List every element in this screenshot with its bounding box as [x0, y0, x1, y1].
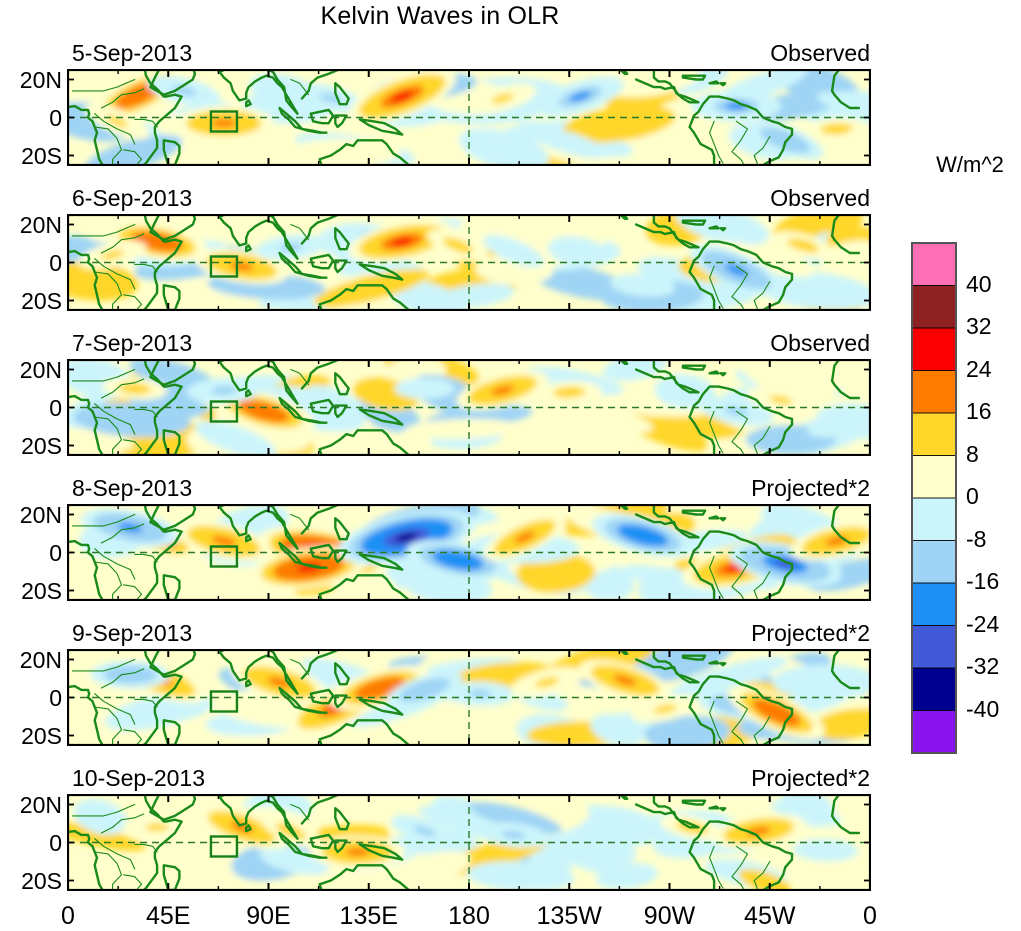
- colorbar-band: [912, 668, 956, 711]
- y-tick-label: 0: [0, 540, 62, 567]
- panel-date-label-3: 7-Sep-2013: [72, 330, 192, 357]
- panel-source-label-2: Observed: [770, 185, 870, 212]
- colorbar-band: [912, 243, 956, 286]
- map-panel-5: [67, 649, 871, 746]
- colorbar-band: [912, 498, 956, 541]
- colorbar-tick-label: 16: [966, 398, 992, 425]
- y-tick-label: 20S: [0, 288, 62, 315]
- colorbar-band: [912, 413, 956, 456]
- x-tick-label: 90E: [224, 902, 314, 931]
- y-tick-label: 20N: [0, 792, 62, 819]
- panel-source-label-4: Projected*2: [751, 475, 870, 502]
- map-panel-4: [67, 504, 871, 601]
- map-panel-6: [67, 794, 871, 891]
- panel-source-label-5: Projected*2: [751, 620, 870, 647]
- colorbar-band: [912, 456, 956, 499]
- colorbar-band: [912, 583, 956, 626]
- x-tick-label: 0: [825, 902, 915, 931]
- colorbar-tick-label: 24: [966, 356, 992, 383]
- colorbar-tick-label: -16: [966, 568, 999, 595]
- figure-root: Kelvin Waves in OLR W/m^2 5-Sep-2013Obse…: [0, 0, 1021, 922]
- map-panel-3: [67, 359, 871, 456]
- panel-date-label-1: 5-Sep-2013: [72, 40, 192, 67]
- colorbar-tick-label: 0: [966, 483, 979, 510]
- y-tick-label: 20N: [0, 212, 62, 239]
- colorbar: [910, 241, 958, 755]
- y-tick-label: 20S: [0, 433, 62, 460]
- colorbar-band: [912, 711, 956, 754]
- panel-date-label-2: 6-Sep-2013: [72, 185, 192, 212]
- y-tick-label: 20N: [0, 647, 62, 674]
- colorbar-tick-label: -40: [966, 696, 999, 723]
- panel-date-label-6: 10-Sep-2013: [72, 765, 205, 792]
- y-tick-label: 0: [0, 395, 62, 422]
- x-tick-label: 90W: [625, 902, 715, 931]
- y-tick-label: 20N: [0, 357, 62, 384]
- colorbar-tick-label: 8: [966, 441, 979, 468]
- x-tick-label: 135E: [324, 902, 414, 931]
- colorbar-tick-label: -32: [966, 653, 999, 680]
- x-tick-label: 45E: [123, 902, 213, 931]
- panel-date-label-4: 8-Sep-2013: [72, 475, 192, 502]
- map-panel-1: [67, 69, 871, 166]
- y-tick-label: 0: [0, 250, 62, 277]
- colorbar-band: [912, 286, 956, 329]
- page-title: Kelvin Waves in OLR: [0, 2, 880, 31]
- x-tick-label: 45W: [725, 902, 815, 931]
- colorbar-tick-label: 32: [966, 313, 992, 340]
- y-tick-label: 20S: [0, 578, 62, 605]
- y-tick-label: 20S: [0, 143, 62, 170]
- y-tick-label: 0: [0, 105, 62, 132]
- colorbar-band: [912, 626, 956, 669]
- colorbar-unit-label: W/m^2: [905, 152, 1021, 178]
- colorbar-band: [912, 541, 956, 584]
- y-tick-label: 20S: [0, 723, 62, 750]
- colorbar-tick-label: -24: [966, 611, 999, 638]
- x-tick-label: 180: [424, 902, 514, 931]
- colorbar-band: [912, 371, 956, 414]
- panel-source-label-1: Observed: [770, 40, 870, 67]
- colorbar-tick-label: -8: [966, 526, 986, 553]
- panel-source-label-3: Observed: [770, 330, 870, 357]
- y-tick-label: 20N: [0, 67, 62, 94]
- x-tick-label: 0: [23, 902, 113, 931]
- colorbar-band: [912, 328, 956, 371]
- colorbar-tick-label: 40: [966, 271, 992, 298]
- y-tick-label: 0: [0, 830, 62, 857]
- y-tick-label: 20N: [0, 502, 62, 529]
- panel-date-label-5: 9-Sep-2013: [72, 620, 192, 647]
- y-tick-label: 0: [0, 685, 62, 712]
- panel-source-label-6: Projected*2: [751, 765, 870, 792]
- map-panel-2: [67, 214, 871, 311]
- x-tick-label: 135W: [524, 902, 614, 931]
- y-tick-label: 20S: [0, 868, 62, 895]
